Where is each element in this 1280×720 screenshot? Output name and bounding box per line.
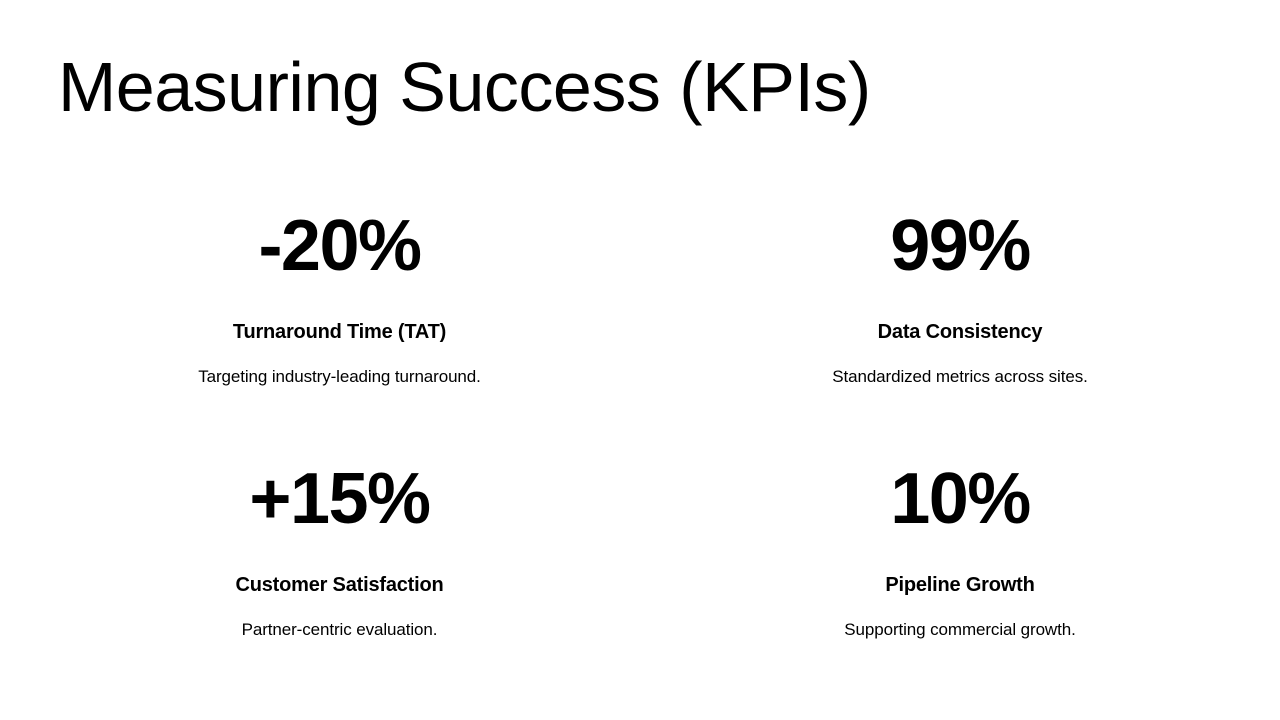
kpi-card-pipeline-growth: 10% Pipeline Growth Supporting commercia… xyxy=(640,431,1280,684)
kpi-slide: Measuring Success (KPIs) -20% Turnaround… xyxy=(0,0,1280,720)
kpi-label: Customer Satisfaction xyxy=(235,535,443,597)
kpi-description: Targeting industry-leading turnaround. xyxy=(198,344,481,388)
kpi-label: Pipeline Growth xyxy=(885,535,1034,597)
kpi-label: Turnaround Time (TAT) xyxy=(233,282,446,344)
kpi-card-turnaround-time: -20% Turnaround Time (TAT) Targeting ind… xyxy=(0,178,640,431)
kpi-description: Supporting commercial growth. xyxy=(844,597,1075,641)
kpi-card-customer-satisfaction: +15% Customer Satisfaction Partner-centr… xyxy=(0,431,640,684)
kpi-value: -20% xyxy=(258,178,420,282)
kpi-description: Standardized metrics across sites. xyxy=(832,344,1087,388)
kpi-grid: -20% Turnaround Time (TAT) Targeting ind… xyxy=(0,178,1280,684)
kpi-card-data-consistency: 99% Data Consistency Standardized metric… xyxy=(640,178,1280,431)
page-title: Measuring Success (KPIs) xyxy=(58,52,871,122)
kpi-value: 10% xyxy=(890,431,1030,535)
kpi-value: 99% xyxy=(890,178,1030,282)
kpi-label: Data Consistency xyxy=(878,282,1043,344)
kpi-description: Partner-centric evaluation. xyxy=(242,597,438,641)
kpi-value: +15% xyxy=(249,431,429,535)
